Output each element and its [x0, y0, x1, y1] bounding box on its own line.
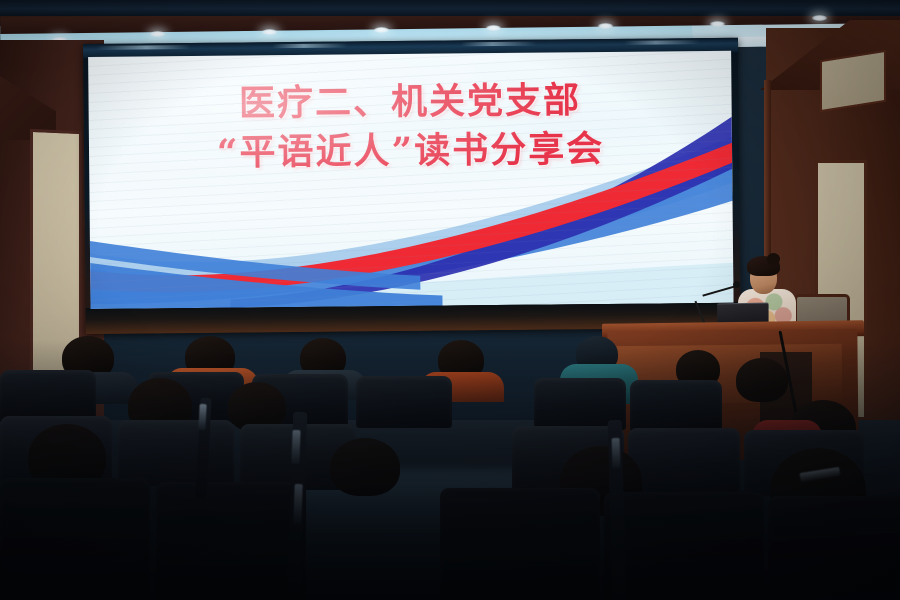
- downlight-icon: [150, 31, 165, 37]
- auditorium-seat: [604, 492, 764, 600]
- rail-highlight: [293, 484, 302, 524]
- auditorium-seat: [0, 478, 150, 600]
- auditorium-seat: [118, 420, 234, 486]
- auditorium-seat: [356, 376, 452, 428]
- rail-highlight: [291, 430, 300, 464]
- ceiling-top-band: [0, 0, 900, 16]
- auditorium-seat: [156, 482, 306, 600]
- rail-highlight: [612, 438, 621, 468]
- auditorium-seat: [630, 380, 722, 432]
- downlight-icon: [812, 15, 827, 21]
- downlight-icon: [486, 25, 501, 31]
- right-wall-upper-panel: [820, 50, 886, 112]
- led-display-screen: 医疗二、机关党支部 “平语近人”读书分享会: [83, 38, 741, 334]
- auditorium-seat: [628, 428, 740, 492]
- auditorium-scene: 医疗二、机关党支部 “平语近人”读书分享会: [0, 0, 900, 600]
- auditorium-seat: [768, 496, 900, 600]
- downlight-icon: [262, 29, 277, 35]
- attendee-head: [330, 438, 400, 496]
- attendee-head: [736, 358, 788, 402]
- downlight-icon: [598, 23, 613, 29]
- screen-surface: 医疗二、机关党支部 “平语近人”读书分享会: [88, 51, 733, 309]
- speaker-hair-bun: [767, 253, 780, 265]
- slide-title: 医疗二、机关党支部 “平语近人”读书分享会: [88, 79, 732, 175]
- downlight-icon: [710, 21, 725, 27]
- rail-highlight: [198, 404, 206, 430]
- auditorium-seat: [440, 488, 600, 600]
- downlight-icon: [374, 27, 389, 33]
- slide-title-line-2: “平语近人”读书分享会: [89, 128, 732, 175]
- slide-title-line-1: 医疗二、机关党支部: [88, 79, 731, 126]
- microphone-head-icon: [733, 281, 740, 288]
